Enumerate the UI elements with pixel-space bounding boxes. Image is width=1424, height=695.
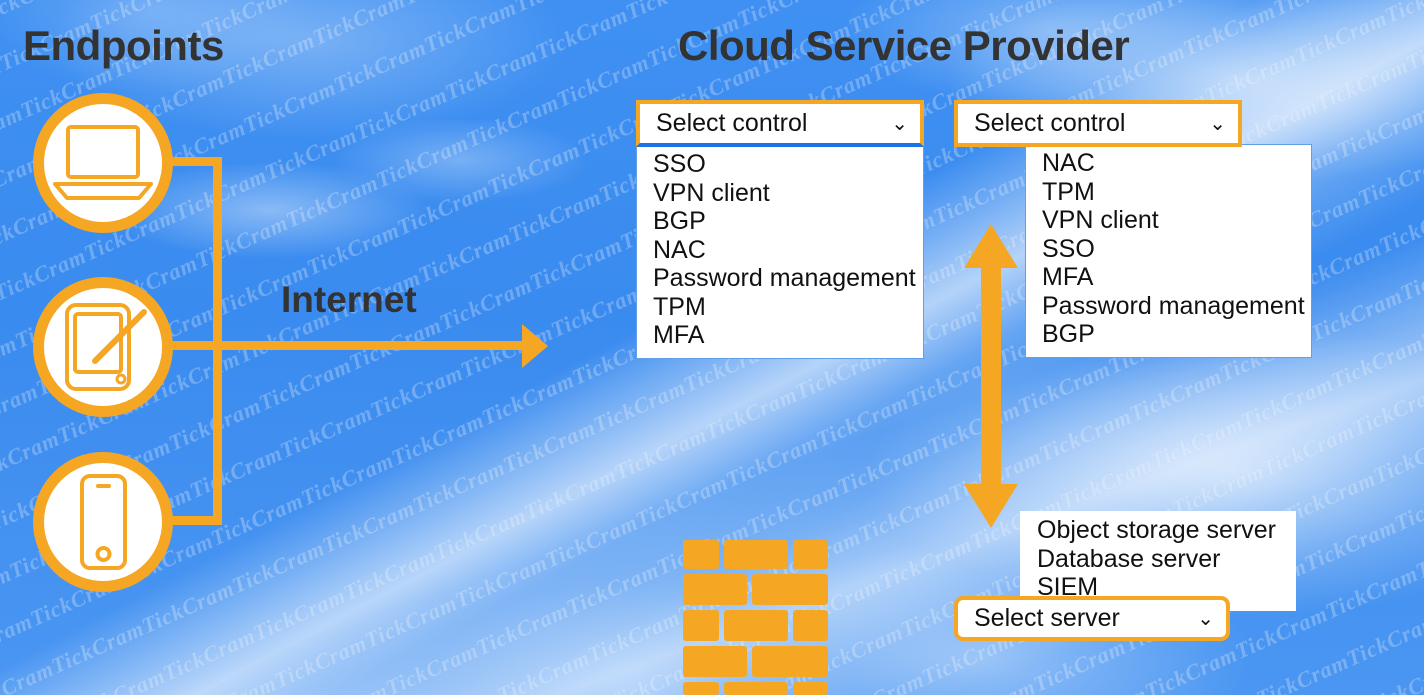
option-item[interactable]: BGP <box>637 207 923 236</box>
endpoint-phone <box>33 452 173 592</box>
option-item[interactable]: BGP <box>1026 320 1311 349</box>
option-item[interactable]: NAC <box>1026 149 1311 178</box>
option-item[interactable]: TPM <box>1026 178 1311 207</box>
smartphone-icon <box>68 472 138 572</box>
option-item[interactable]: SSO <box>637 150 923 179</box>
endpoint-tablet <box>33 277 173 417</box>
option-item[interactable]: SSO <box>1026 235 1311 264</box>
option-item[interactable]: NAC <box>637 236 923 265</box>
select-server-label: Select server <box>974 604 1197 633</box>
arrow-right-icon <box>522 324 548 368</box>
connector-internet-line <box>213 341 525 350</box>
option-item[interactable]: Password management <box>1026 292 1311 321</box>
select-control-1-options[interactable]: SSO VPN client BGP NAC Password manageme… <box>636 146 924 359</box>
option-item[interactable]: Database server <box>1021 545 1295 574</box>
chevron-down-icon: ⌄ <box>1197 609 1214 629</box>
page-title-endpoints: Endpoints <box>23 22 224 70</box>
select-control-1[interactable]: Select control ⌄ <box>636 100 924 147</box>
option-item[interactable]: VPN client <box>1026 206 1311 235</box>
select-server[interactable]: Select server ⌄ <box>954 596 1230 641</box>
endpoint-laptop <box>33 93 173 233</box>
option-item[interactable]: MFA <box>637 321 923 350</box>
select-control-1-label: Select control <box>656 109 891 138</box>
option-item[interactable]: Password management <box>637 264 923 293</box>
option-item[interactable]: VPN client <box>637 179 923 208</box>
select-control-2-options[interactable]: NAC TPM VPN client SSO MFA Password mana… <box>1025 144 1312 358</box>
diagram-canvas: CramTickCramTickCramTickCramTickCramTick… <box>0 0 1424 695</box>
option-item[interactable]: MFA <box>1026 263 1311 292</box>
select-control-2[interactable]: Select control ⌄ <box>954 100 1242 147</box>
laptop-icon <box>51 120 155 206</box>
option-item[interactable]: Object storage server <box>1021 516 1295 545</box>
tablet-stylus-icon <box>51 299 155 395</box>
page-title-cloud-service-provider: Cloud Service Provider <box>678 22 1129 70</box>
internet-label: Internet <box>281 279 417 321</box>
arrow-up-down-icon <box>960 222 1022 530</box>
select-control-2-label: Select control <box>974 109 1209 138</box>
option-item[interactable]: TPM <box>637 293 923 322</box>
chevron-down-icon: ⌄ <box>1209 114 1226 134</box>
chevron-down-icon: ⌄ <box>891 114 908 134</box>
firewall-brick-wall-icon <box>681 538 848 695</box>
